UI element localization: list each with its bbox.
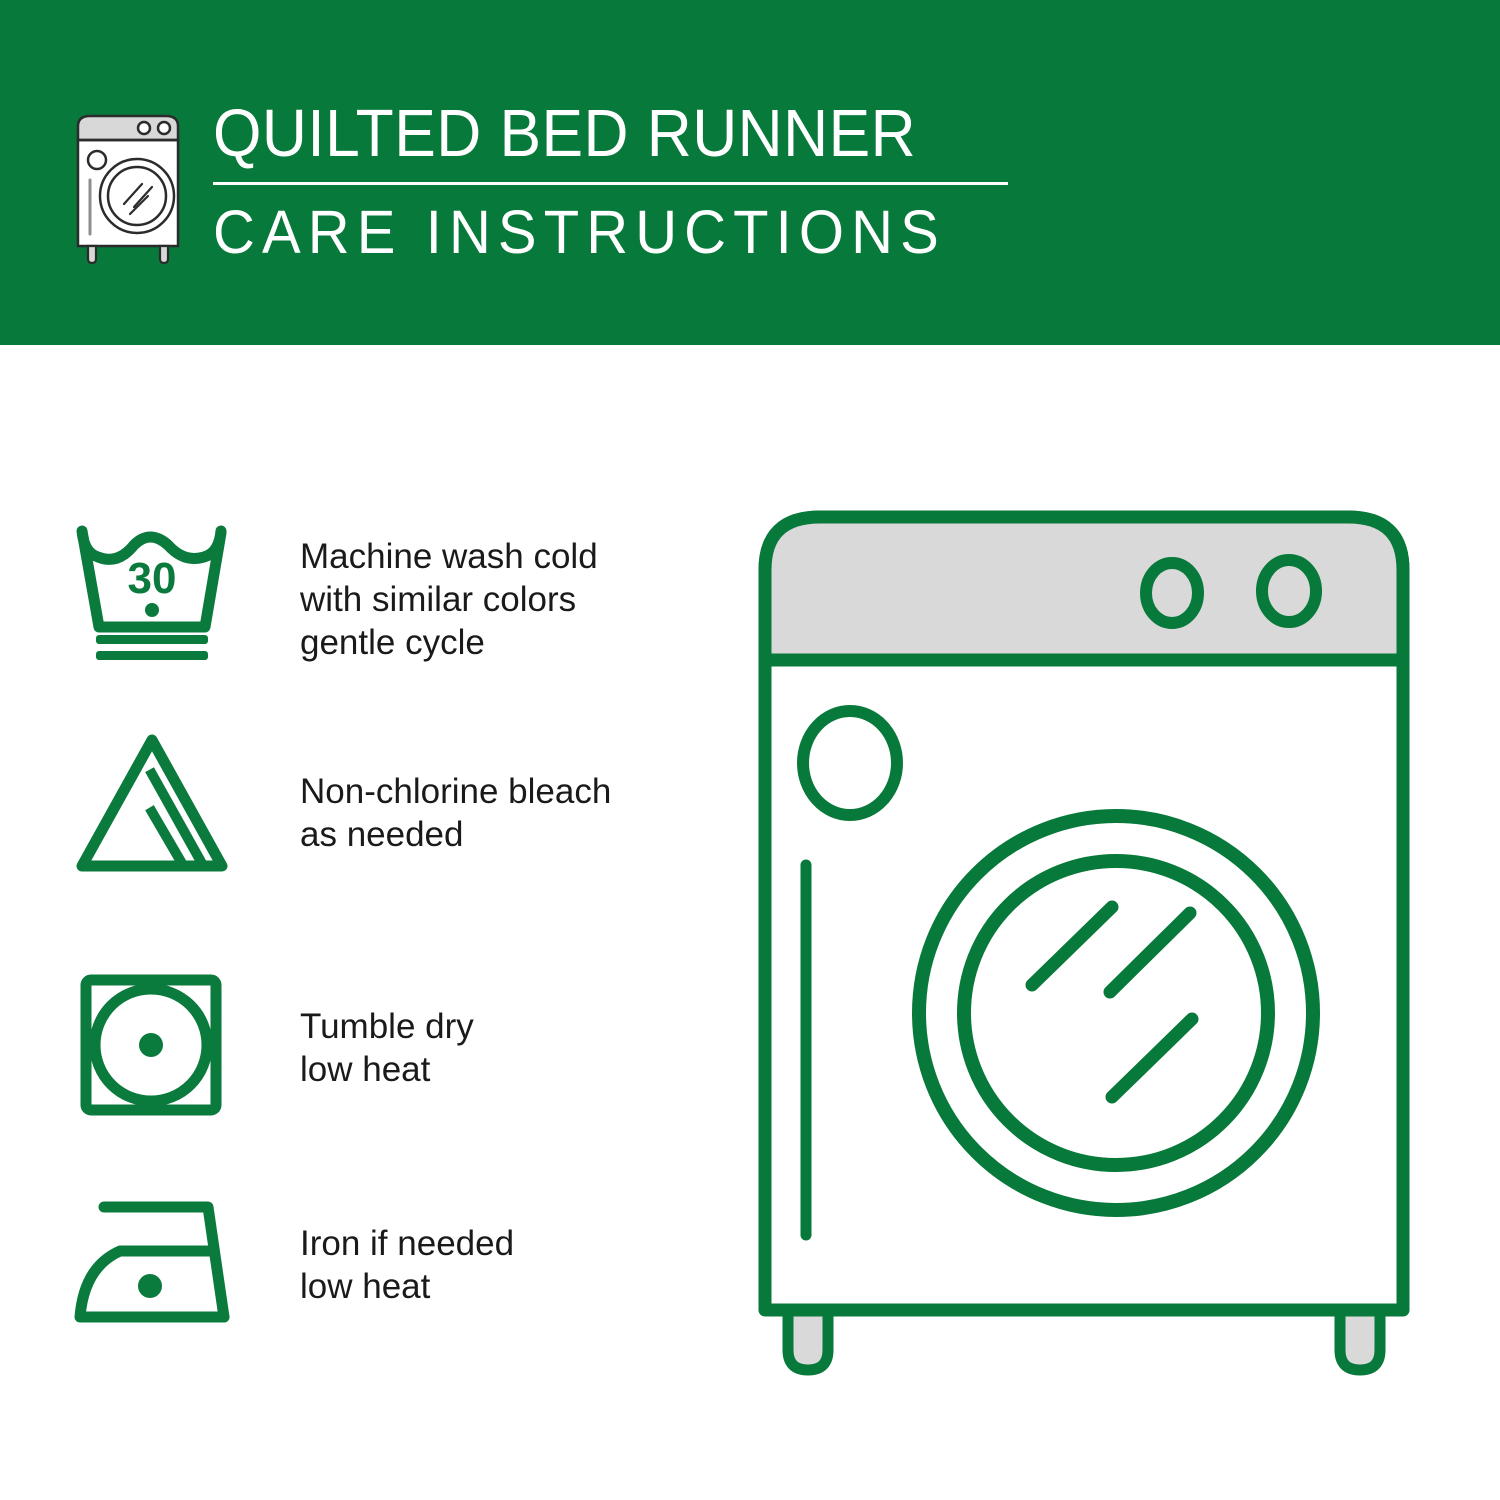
care-text-bleach: Non-chlorine bleach as needed [300, 770, 611, 856]
wash-tub-30-icon: 30 [72, 515, 242, 665]
knob-left [1146, 563, 1198, 623]
care-text-machine-wash: Machine wash cold with similar colors ge… [300, 535, 598, 664]
wash-temperature-label: 30 [128, 554, 177, 603]
care-text-iron: Iron if needed low heat [300, 1222, 514, 1308]
care-instructions-page: QUILTED BED RUNNER CARE INSTRUCTIONS 30 [0, 0, 1500, 1500]
bleach-triangle-icon [72, 728, 242, 878]
iron-low-icon [72, 1185, 242, 1335]
care-text-tumble-dry: Tumble dry low heat [300, 1005, 474, 1091]
knob-right [1262, 560, 1316, 622]
care-instruction-list: 30 Machine wash cold with similar colors… [0, 0, 700, 1500]
detergent-drawer-ellipse [803, 711, 897, 815]
front-load-washing-machine-illustration [740, 495, 1460, 1405]
tumble-dry-low-icon [72, 970, 242, 1120]
